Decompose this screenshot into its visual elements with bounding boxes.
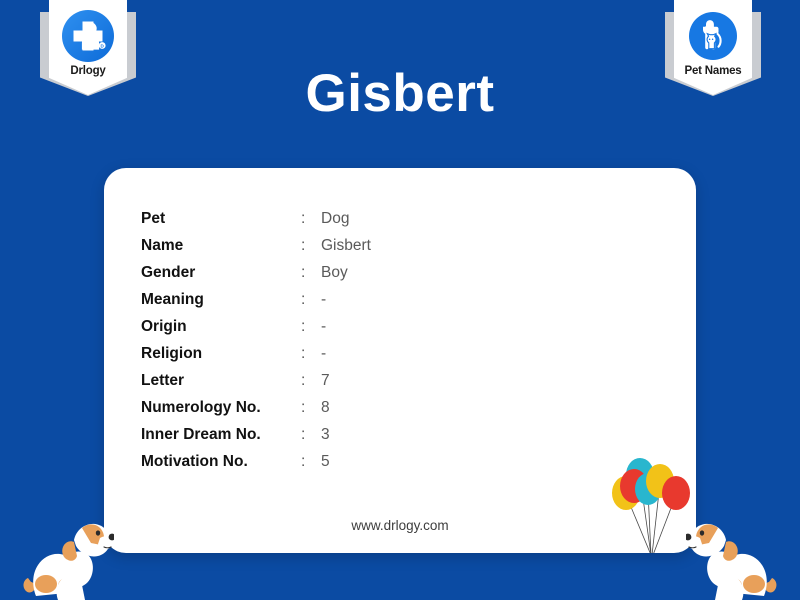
row-separator: :	[301, 426, 321, 444]
badge-label-left: Drlogy	[49, 65, 127, 77]
table-row: Meaning : -	[141, 291, 561, 318]
table-row: Pet : Dog	[141, 210, 561, 237]
row-separator: :	[301, 291, 321, 309]
ribbon-body-left: D Drlogy	[49, 0, 127, 95]
dog-illustration-right	[686, 504, 778, 600]
row-label: Gender	[141, 264, 301, 282]
row-label: Motivation No.	[141, 453, 301, 471]
table-row: Name : Gisbert	[141, 237, 561, 264]
row-separator: :	[301, 399, 321, 417]
row-separator: :	[301, 264, 321, 282]
doctor-stethoscope-cross-icon: D	[61, 9, 115, 63]
row-label: Name	[141, 237, 301, 255]
row-value: Boy	[321, 264, 348, 282]
pet-name-details-card: Pet : Dog Name : Gisbert Gender : Boy Me…	[104, 168, 696, 553]
row-label: Religion	[141, 345, 301, 363]
row-value: -	[321, 291, 326, 309]
row-label: Meaning	[141, 291, 301, 309]
row-label: Letter	[141, 372, 301, 390]
row-separator: :	[301, 210, 321, 228]
row-label: Origin	[141, 318, 301, 336]
category-badge-pet-names[interactable]: Pet Names	[674, 0, 752, 95]
table-row: Numerology No. : 8	[141, 399, 561, 426]
row-label: Pet	[141, 210, 301, 228]
table-row: Letter : 7	[141, 372, 561, 399]
row-label: Inner Dream No.	[141, 426, 301, 444]
ribbon-body-right: Pet Names	[674, 0, 752, 95]
table-row: Religion : -	[141, 345, 561, 372]
row-value: 8	[321, 399, 330, 417]
row-value: 5	[321, 453, 330, 471]
row-value: -	[321, 318, 326, 336]
brand-badge-drlogy[interactable]: D Drlogy	[49, 0, 127, 95]
row-value: 7	[321, 372, 330, 390]
dog-cat-icon	[686, 9, 740, 63]
table-row: Origin : -	[141, 318, 561, 345]
badge-label-right: Pet Names	[674, 65, 752, 77]
dog-illustration-left	[22, 504, 114, 600]
table-row: Gender : Boy	[141, 264, 561, 291]
row-value: -	[321, 345, 326, 363]
row-value: 3	[321, 426, 330, 444]
row-separator: :	[301, 318, 321, 336]
row-separator: :	[301, 453, 321, 471]
row-separator: :	[301, 345, 321, 363]
row-value: Gisbert	[321, 237, 371, 255]
table-row: Inner Dream No. : 3	[141, 426, 561, 453]
row-label: Numerology No.	[141, 399, 301, 417]
website-url: www.drlogy.com	[104, 518, 696, 533]
detail-list: Pet : Dog Name : Gisbert Gender : Boy Me…	[141, 210, 561, 480]
row-separator: :	[301, 372, 321, 390]
balloons-decoration	[596, 451, 696, 553]
table-row: Motivation No. : 5	[141, 453, 561, 480]
row-separator: :	[301, 237, 321, 255]
row-value: Dog	[321, 210, 349, 228]
